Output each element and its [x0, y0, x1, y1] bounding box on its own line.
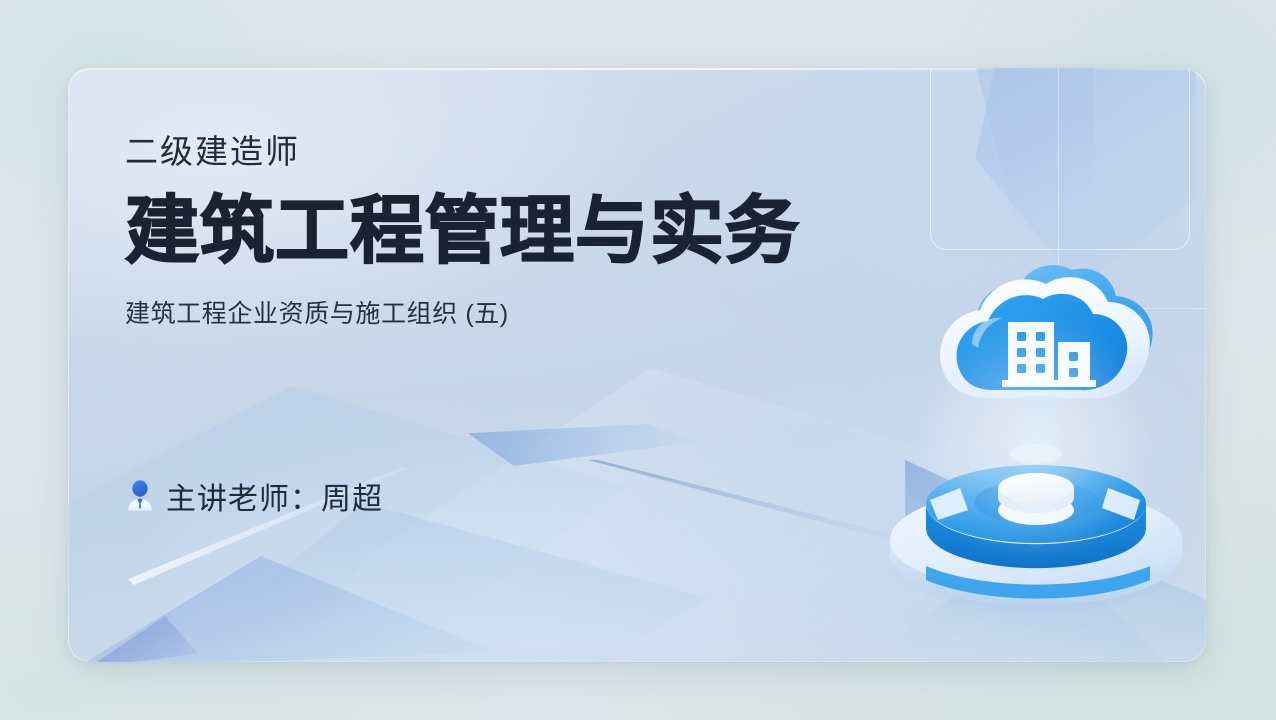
person-avatar-icon	[125, 479, 155, 513]
decorative-isometric-plate-center	[318, 368, 958, 662]
decorative-triangle-bottom-left	[76, 556, 496, 662]
slide-canvas: 二级建造师 建筑工程管理与实务 建筑工程企业资质与施工组织 (五)	[0, 0, 1276, 720]
card-wash-bottom-left	[159, 389, 956, 662]
title-text-block: 二级建造师 建筑工程管理与实务 建筑工程企业资质与施工组织 (五)	[125, 134, 800, 329]
course-category-label: 二级建造师	[125, 134, 800, 170]
title-card: 二级建造师 建筑工程管理与实务 建筑工程企业资质与施工组织 (五)	[68, 68, 1206, 662]
course-subtitle: 建筑工程企业资质与施工组织 (五)	[125, 299, 800, 329]
presenter-label: 主讲老师：周超	[166, 474, 383, 518]
decorative-isometric-plate-left	[68, 386, 628, 662]
cloud-building-3d-icon	[868, 248, 1198, 618]
decorative-isometric-bar-one	[468, 424, 698, 466]
decorative-triangle-bottom-left-small	[88, 616, 198, 662]
course-title: 建筑工程管理与实务	[125, 192, 800, 270]
presenter-row: 主讲老师：周超	[125, 474, 383, 518]
